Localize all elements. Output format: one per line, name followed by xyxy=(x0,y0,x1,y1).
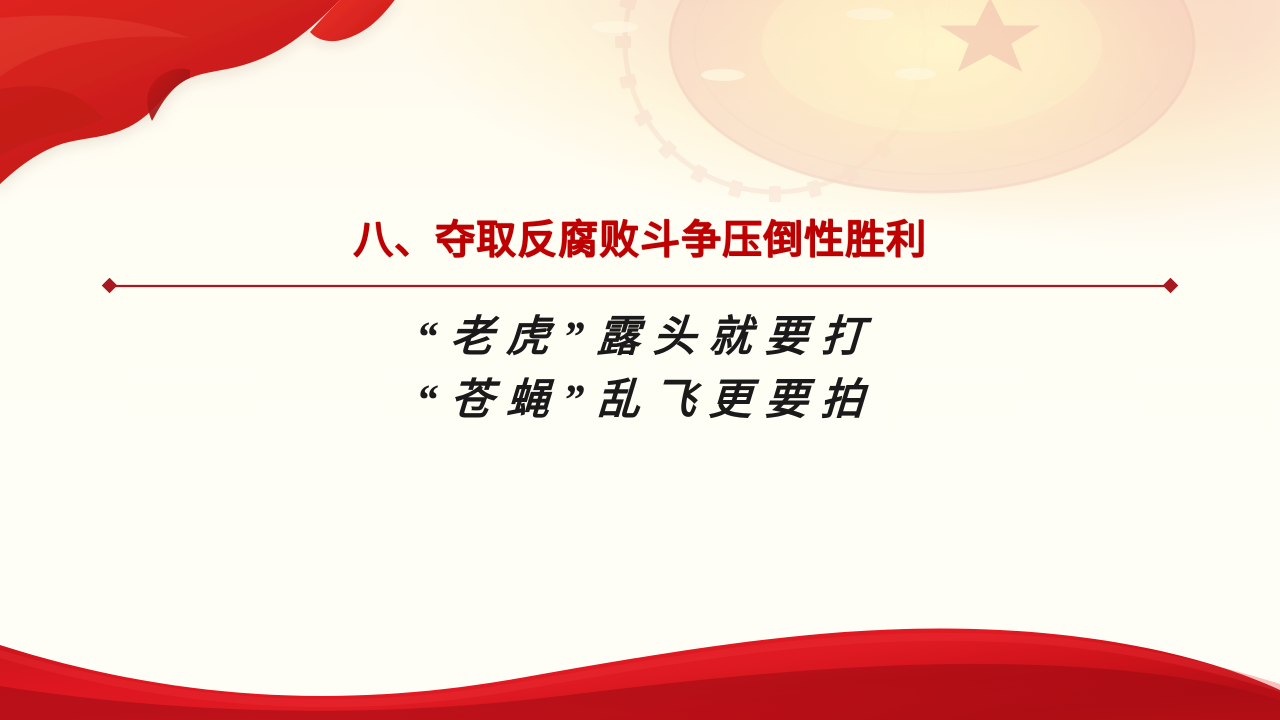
title-divider xyxy=(100,278,1180,294)
body-line-1: “老虎”露头就要打 xyxy=(0,306,1280,369)
page-title: 八、夺取反腐败斗争压倒性胜利 xyxy=(0,207,1280,265)
body-line-2: “苍蝇”乱飞更要拍 xyxy=(0,369,1280,432)
slide-content: 八、夺取反腐败斗争压倒性胜利 “老虎”露头就要打 “苍蝇”乱飞更要拍 xyxy=(0,0,1280,720)
body-text-block: “老虎”露头就要打 “苍蝇”乱飞更要拍 xyxy=(0,306,1280,432)
slide-canvas: 八、夺取反腐败斗争压倒性胜利 “老虎”露头就要打 “苍蝇”乱飞更要拍 xyxy=(0,0,1280,720)
